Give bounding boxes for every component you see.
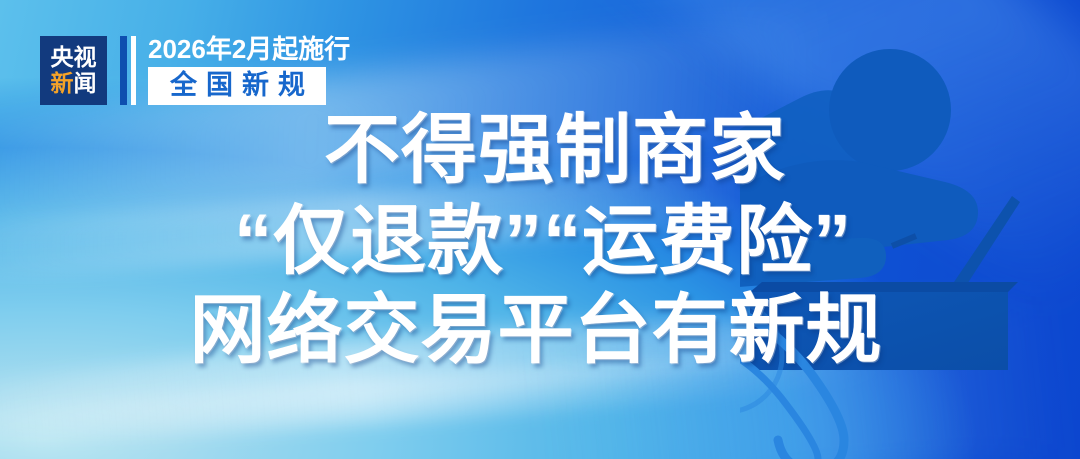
cctv-logo-char-wen: 闻 <box>74 72 97 95</box>
title-line-1: 不得强制商家 <box>30 112 1080 190</box>
header-divider <box>120 36 136 105</box>
divider-thin-bar <box>131 36 136 105</box>
title-line-2: “仅退款”“运费险” <box>6 203 1080 281</box>
header-text-group: 2026年2月起施行 全国新规 <box>148 36 350 105</box>
cctv-logo-char-xin: 新 <box>51 72 74 95</box>
header-badge: 央视 新 闻 2026年2月起施行 全国新规 <box>40 36 350 105</box>
cctv-news-logo[interactable]: 央视 新 闻 <box>40 36 107 105</box>
page-title: 不得强制商家 “仅退款”“运费险” 网络交易平台有新规 <box>0 112 1080 370</box>
effective-date-label: 2026年2月起施行 <box>148 36 350 62</box>
category-badge: 全国新规 <box>148 67 326 105</box>
cctv-logo-line1: 央视 <box>51 46 97 69</box>
divider-thick-bar <box>120 36 127 105</box>
title-line-3: 网络交易平台有新规 <box>0 292 1080 370</box>
poster-canvas: 央视 新 闻 2026年2月起施行 全国新规 不得强制商家 “仅退款”“运费险”… <box>0 0 1080 459</box>
